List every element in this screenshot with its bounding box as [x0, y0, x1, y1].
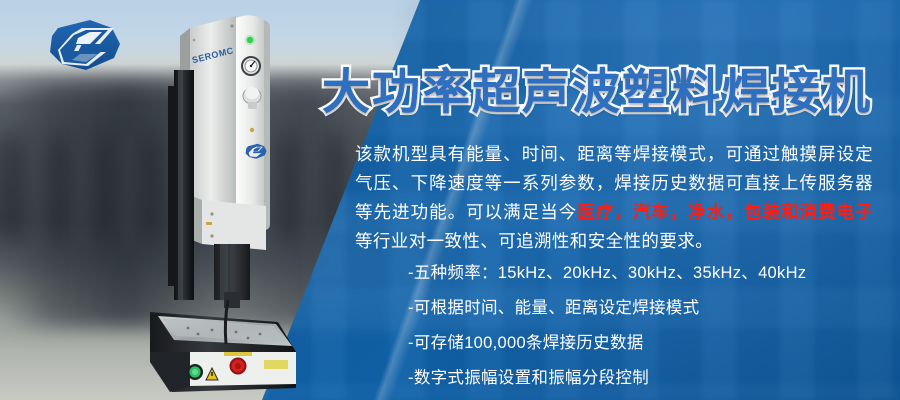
- list-item: -数字式振幅设置和振幅分段控制: [408, 363, 878, 393]
- product-description: 该款机型具有能量、时间、距离等焊接模式，可通过触摸屏设定气压、下降速度等一系列参…: [355, 140, 873, 256]
- description-part-2: 等行业对一致性、可追溯性和安全性的要求。: [355, 231, 713, 251]
- company-logo: [28, 14, 136, 82]
- feature-list: -五种频率：15kHz、20kHz、30kHz、35kHz、40kHz -可根据…: [408, 258, 878, 393]
- description-highlight-industries: 医疗，汽车，净水，包装和消费电子: [577, 202, 873, 222]
- list-item: -五种频率：15kHz、20kHz、30kHz、35kHz、40kHz: [408, 258, 878, 288]
- product-banner: SEROMC: [0, 0, 900, 400]
- page-title: 大功率超声波塑料焊接机: [322, 52, 872, 122]
- list-item: -可存储100,000条焊接历史数据: [408, 328, 878, 358]
- company-logo-icon: [28, 14, 136, 82]
- list-item: -可根据时间、能量、距离设定焊接模式: [408, 293, 878, 323]
